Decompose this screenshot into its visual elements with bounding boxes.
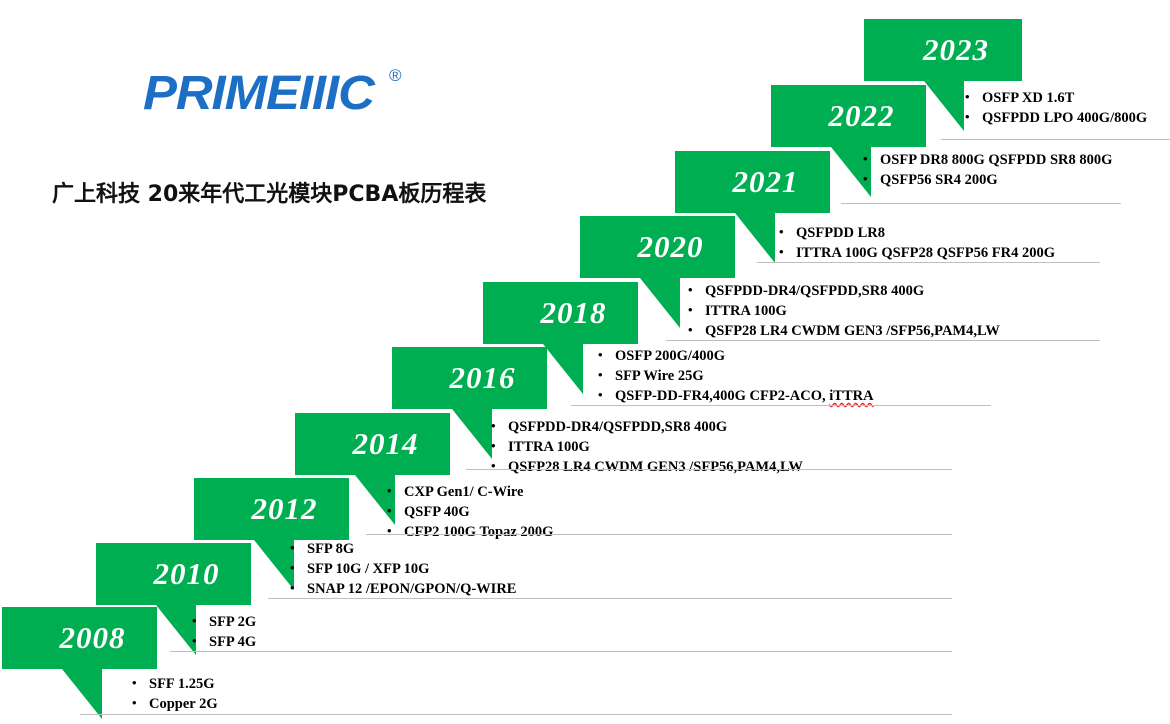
year-callout-2012[interactable]: 2012 (194, 478, 349, 540)
product-list: QSFPDD-DR4/QSFPDD,SR8 400GITTRA 100GQSFP… (686, 281, 1000, 341)
list-item: CXP Gen1/ C-Wire (385, 482, 553, 502)
list-item: OSFP XD 1.6T (963, 88, 1147, 108)
year-callout-2021[interactable]: 2021 (675, 151, 830, 213)
year-label: 2018 (483, 282, 638, 344)
product-list: CXP Gen1/ C-WireQSFP 40GCFP2 100G Topaz … (385, 482, 553, 542)
timeline-infographic: PRIMEIIIC ® 广上科技 20来年代工光模块PCBA板历程表 2008S… (0, 0, 1170, 724)
list-item: SFP 2G (190, 612, 256, 632)
callout-tail (735, 213, 775, 263)
spellcheck-underlined-text: iTTRA (829, 388, 873, 404)
list-item: SFF 1.25G (130, 674, 218, 694)
year-label: 2014 (295, 413, 450, 475)
product-list: QSFPDD-DR4/QSFPDD,SR8 400GITTRA 100GQSFP… (489, 417, 803, 477)
separator-line (941, 139, 1170, 140)
list-item: QSFP 40G (385, 502, 553, 522)
separator-line (571, 405, 991, 406)
product-list: OSFP XD 1.6TQSFPDD LPO 400G/800G (963, 88, 1147, 128)
year-callout-2023[interactable]: 2023 (864, 19, 1022, 81)
list-item: SNAP 12 /EPON/GPON/Q-WIRE (288, 579, 516, 599)
list-item: QSFPDD-DR4/QSFPDD,SR8 400G (686, 281, 1000, 301)
year-callout-2018[interactable]: 2018 (483, 282, 638, 344)
list-item: QSFPDD LPO 400G/800G (963, 108, 1147, 128)
page-title: 广上科技 20来年代工光模块PCBA板历程表 (52, 176, 486, 208)
year-callout-2010[interactable]: 2010 (96, 543, 251, 605)
list-item: OSFP 200G/400G (596, 346, 874, 366)
list-item: SFP 10G / XFP 10G (288, 559, 516, 579)
year-callout-2022[interactable]: 2022 (771, 85, 926, 147)
product-list: QSFPDD LR8ITTRA 100G QSFP28 QSFP56 FR4 2… (777, 223, 1055, 263)
list-item: SFP Wire 25G (596, 366, 874, 386)
separator-line (666, 340, 1100, 341)
year-label: 2010 (96, 543, 251, 605)
logo-wordmark: PRIMEIIIC (143, 64, 429, 124)
product-list: SFP 8GSFP 10G / XFP 10GSNAP 12 /EPON/GPO… (288, 539, 516, 599)
registered-trademark-icon: ® (389, 66, 402, 86)
year-label: 2020 (580, 216, 735, 278)
list-item: QSFP28 LR4 CWDM GEN3 /SFP56,PAM4,LW (686, 321, 1000, 341)
callout-tail (452, 409, 492, 459)
list-item: QSFP28 LR4 CWDM GEN3 /SFP56,PAM4,LW (489, 457, 803, 477)
separator-line (170, 651, 952, 652)
callout-tail (924, 81, 964, 131)
product-list: SFF 1.25GCopper 2G (130, 674, 218, 714)
separator-line (80, 714, 952, 715)
list-item: CFP2 100G Topaz 200G (385, 522, 553, 542)
year-callout-2016[interactable]: 2016 (392, 347, 547, 409)
year-callout-2014[interactable]: 2014 (295, 413, 450, 475)
callout-tail (640, 278, 680, 328)
separator-line (466, 469, 952, 470)
year-callout-2020[interactable]: 2020 (580, 216, 735, 278)
year-label: 2022 (771, 85, 926, 147)
separator-line (366, 534, 952, 535)
list-item: ITTRA 100G QSFP28 QSFP56 FR4 200G (777, 243, 1055, 263)
year-label: 2016 (392, 347, 547, 409)
year-label: 2021 (675, 151, 830, 213)
callout-tail (543, 344, 583, 394)
product-list: OSFP DR8 800G QSFPDD SR8 800GQSFP56 SR4 … (861, 150, 1112, 190)
list-item: QSFPDD LR8 (777, 223, 1055, 243)
list-item: ITTRA 100G (686, 301, 1000, 321)
list-item: OSFP DR8 800G QSFPDD SR8 800G (861, 150, 1112, 170)
list-item: SFP 4G (190, 632, 256, 652)
product-list: OSFP 200G/400GSFP Wire 25GQSFP-DD-FR4,40… (596, 346, 874, 406)
separator-line (757, 262, 1100, 263)
list-item: ITTRA 100G (489, 437, 803, 457)
list-item: Copper 2G (130, 694, 218, 714)
separator-line (268, 598, 952, 599)
list-item: QSFPDD-DR4/QSFPDD,SR8 400G (489, 417, 803, 437)
year-label: 2023 (864, 19, 1022, 81)
year-callout-2008[interactable]: 2008 (2, 607, 157, 669)
year-label: 2012 (194, 478, 349, 540)
callout-tail (62, 669, 102, 719)
year-label: 2008 (2, 607, 157, 669)
product-list: SFP 2GSFP 4G (190, 612, 256, 652)
separator-line (841, 203, 1121, 204)
brand-logo: PRIMEIIIC ® (143, 64, 413, 136)
list-item: QSFP-DD-FR4,400G CFP2-ACO, iTTRA (596, 386, 874, 406)
list-item: QSFP56 SR4 200G (861, 170, 1112, 190)
list-item: SFP 8G (288, 539, 516, 559)
